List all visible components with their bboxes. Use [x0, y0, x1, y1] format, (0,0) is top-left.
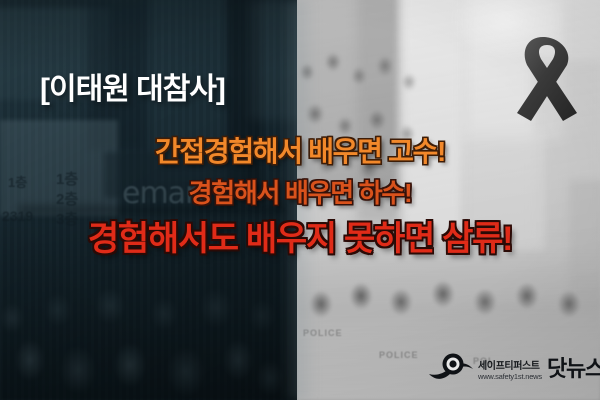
logo-wordmark: 세이프티퍼스트 www.safety1st.news 닷뉴스 [478, 358, 600, 382]
logo-brand-block: 세이프티퍼스트 www.safety1st.news [478, 358, 542, 382]
message-line-2: 경험해서 배우면 하수! [0, 180, 600, 206]
eye-lens-swoosh-icon [428, 352, 474, 389]
publisher-logo: 세이프티퍼스트 www.safety1st.news 닷뉴스 [428, 350, 590, 390]
logo-suffix: 닷뉴스 [547, 358, 600, 380]
message-block: 간접경험해서 배우면 고수! 경험해서 배우면 하수! 경험해서도 배우지 못하… [0, 138, 600, 256]
message-line-1: 간접경험해서 배우면 고수! [0, 138, 600, 166]
logo-website-url: www.safety1st.news [478, 372, 542, 382]
mourning-ribbon-icon [497, 25, 589, 123]
card-news-image: 1층 1층 2층 3층 2319 emart POLICE POLICE POL [0, 0, 600, 400]
message-line-3: 경험해서도 배우지 못하면 삼류! [0, 222, 600, 256]
page-title: [이태원 대참사] [40, 64, 225, 108]
logo-brand-name: 세이프티퍼스트 [478, 361, 540, 372]
